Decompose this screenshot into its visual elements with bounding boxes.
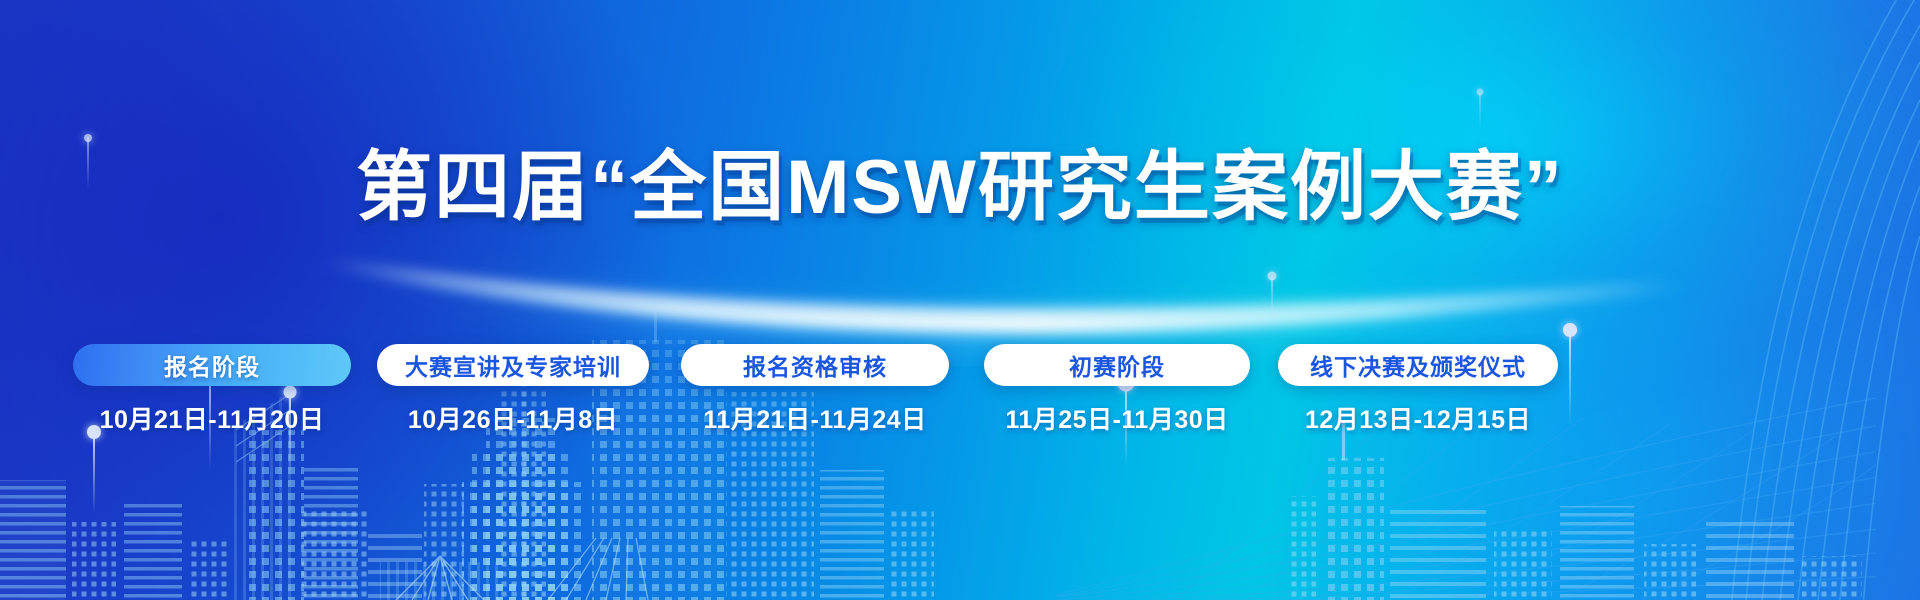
stage-date: 10月26日-11月8日 [408, 400, 618, 436]
timeline-stage[interactable]: 大赛宣讲及专家培训 10月26日-11月8日 [362, 344, 664, 436]
stage-date: 11月21日-11月24日 [703, 400, 926, 436]
timeline-stage[interactable]: 线下决赛及颁奖仪式 12月13日-12月15日 [1268, 344, 1568, 436]
stage-pill-eligibility-review[interactable]: 报名资格审核 [681, 344, 949, 386]
stage-label: 报名资格审核 [743, 348, 887, 382]
timeline-stages: 报名阶段 10月21日-11月20日 大赛宣讲及专家培训 10月26日-11月8… [0, 344, 1920, 434]
timeline-stage[interactable]: 报名阶段 10月21日-11月20日 [62, 344, 362, 436]
stage-pill-final-award[interactable]: 线下决赛及颁奖仪式 [1278, 344, 1558, 386]
timeline-stage[interactable]: 初赛阶段 11月25日-11月30日 [966, 344, 1268, 436]
background-glow-deep [0, 0, 670, 600]
stage-label: 报名阶段 [164, 348, 260, 382]
stage-label: 初赛阶段 [1069, 348, 1165, 382]
stage-date: 12月13日-12月15日 [1305, 400, 1531, 436]
event-banner: 第四届“全国MSW研究生案例大赛” 报名阶段 10月21日-11月20日 大赛宣… [0, 0, 1920, 600]
banner-title: 第四届“全国MSW研究生案例大赛” [0, 142, 1920, 234]
stage-pill-briefing-training[interactable]: 大赛宣讲及专家培训 [377, 344, 649, 386]
timeline-stage[interactable]: 报名资格审核 11月21日-11月24日 [664, 344, 966, 436]
stage-label: 大赛宣讲及专家培训 [405, 348, 621, 382]
stage-pill-preliminary[interactable]: 初赛阶段 [984, 344, 1250, 386]
stage-date: 11月25日-11月30日 [1005, 400, 1228, 436]
stage-date: 10月21日-11月20日 [100, 400, 325, 436]
stage-pill-registration[interactable]: 报名阶段 [73, 344, 351, 386]
arc-lines-right-icon [1400, 0, 1920, 600]
stage-label: 线下决赛及颁奖仪式 [1310, 348, 1526, 382]
